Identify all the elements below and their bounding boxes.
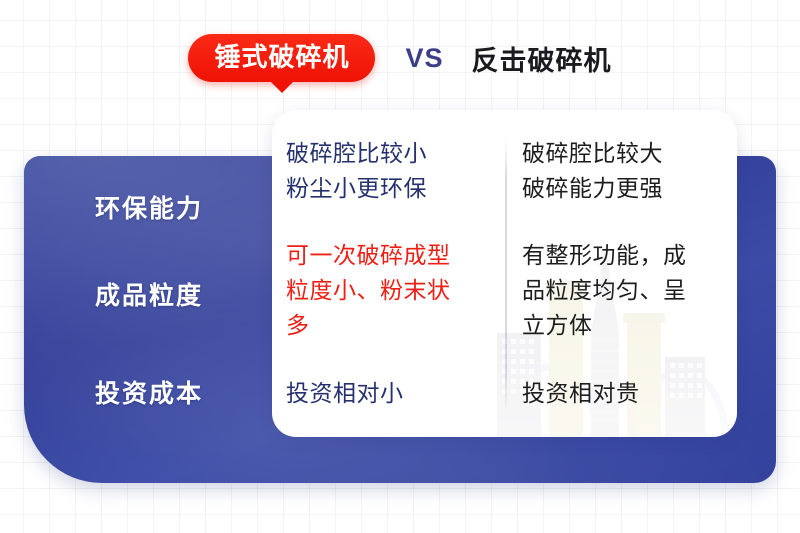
cell-line: 立方体 [522,308,727,343]
cell-left-investment-cost: 投资相对小 [286,376,491,411]
cell-line: 可一次破碎成型 [286,238,491,273]
comparison-card: 破碎腔比较小 粉尘小更环保 可一次破碎成型 粒度小、粉末状 多 投资相对小 破碎… [272,110,737,437]
cell-line: 投资相对小 [286,376,491,411]
header-row: 锤式破碎机 VS 反击破碎机 [0,28,800,88]
cell-line: 破碎腔比较小 [286,136,491,171]
cell-line: 粒度小、粉末状 [286,273,491,308]
left-product-badge: 锤式破碎机 [188,34,375,82]
cell-line: 品粒度均匀、呈 [522,273,727,308]
left-product-badge-label: 锤式破碎机 [188,34,375,82]
cell-line: 破碎能力更强 [522,171,727,206]
cell-line: 破碎腔比较大 [522,136,727,171]
vs-label: VS [405,43,443,74]
cell-right-environment: 破碎腔比较大 破碎能力更强 [522,136,727,206]
cell-line: 有整形功能，成 [522,238,727,273]
cell-line: 粉尘小更环保 [286,171,491,206]
card-column-divider [505,140,507,412]
cell-right-investment-cost: 投资相对贵 [522,376,727,411]
right-product-title: 反击破碎机 [472,39,612,78]
row-label-column: 环保能力 成品粒度 投资成本 [24,156,274,483]
cell-left-particle-size: 可一次破碎成型 粒度小、粉末状 多 [286,238,491,343]
row-label-investment-cost: 投资成本 [24,374,274,410]
cell-right-particle-size: 有整形功能，成 品粒度均匀、呈 立方体 [522,238,727,343]
badge-pointer-icon [269,80,295,93]
right-product-column: 破碎腔比较大 破碎能力更强 有整形功能，成 品粒度均匀、呈 立方体 投资相对贵 [522,110,737,437]
left-product-column: 破碎腔比较小 粉尘小更环保 可一次破碎成型 粒度小、粉末状 多 投资相对小 [286,110,501,437]
comparison-infographic: 锤式破碎机 VS 反击破碎机 环保能力 成品粒度 投资成本 [0,0,800,533]
cell-line: 多 [286,308,491,343]
row-label-particle-size: 成品粒度 [24,276,274,312]
row-label-environment: 环保能力 [24,189,274,225]
cell-left-environment: 破碎腔比较小 粉尘小更环保 [286,136,491,206]
cell-line: 投资相对贵 [522,376,727,411]
